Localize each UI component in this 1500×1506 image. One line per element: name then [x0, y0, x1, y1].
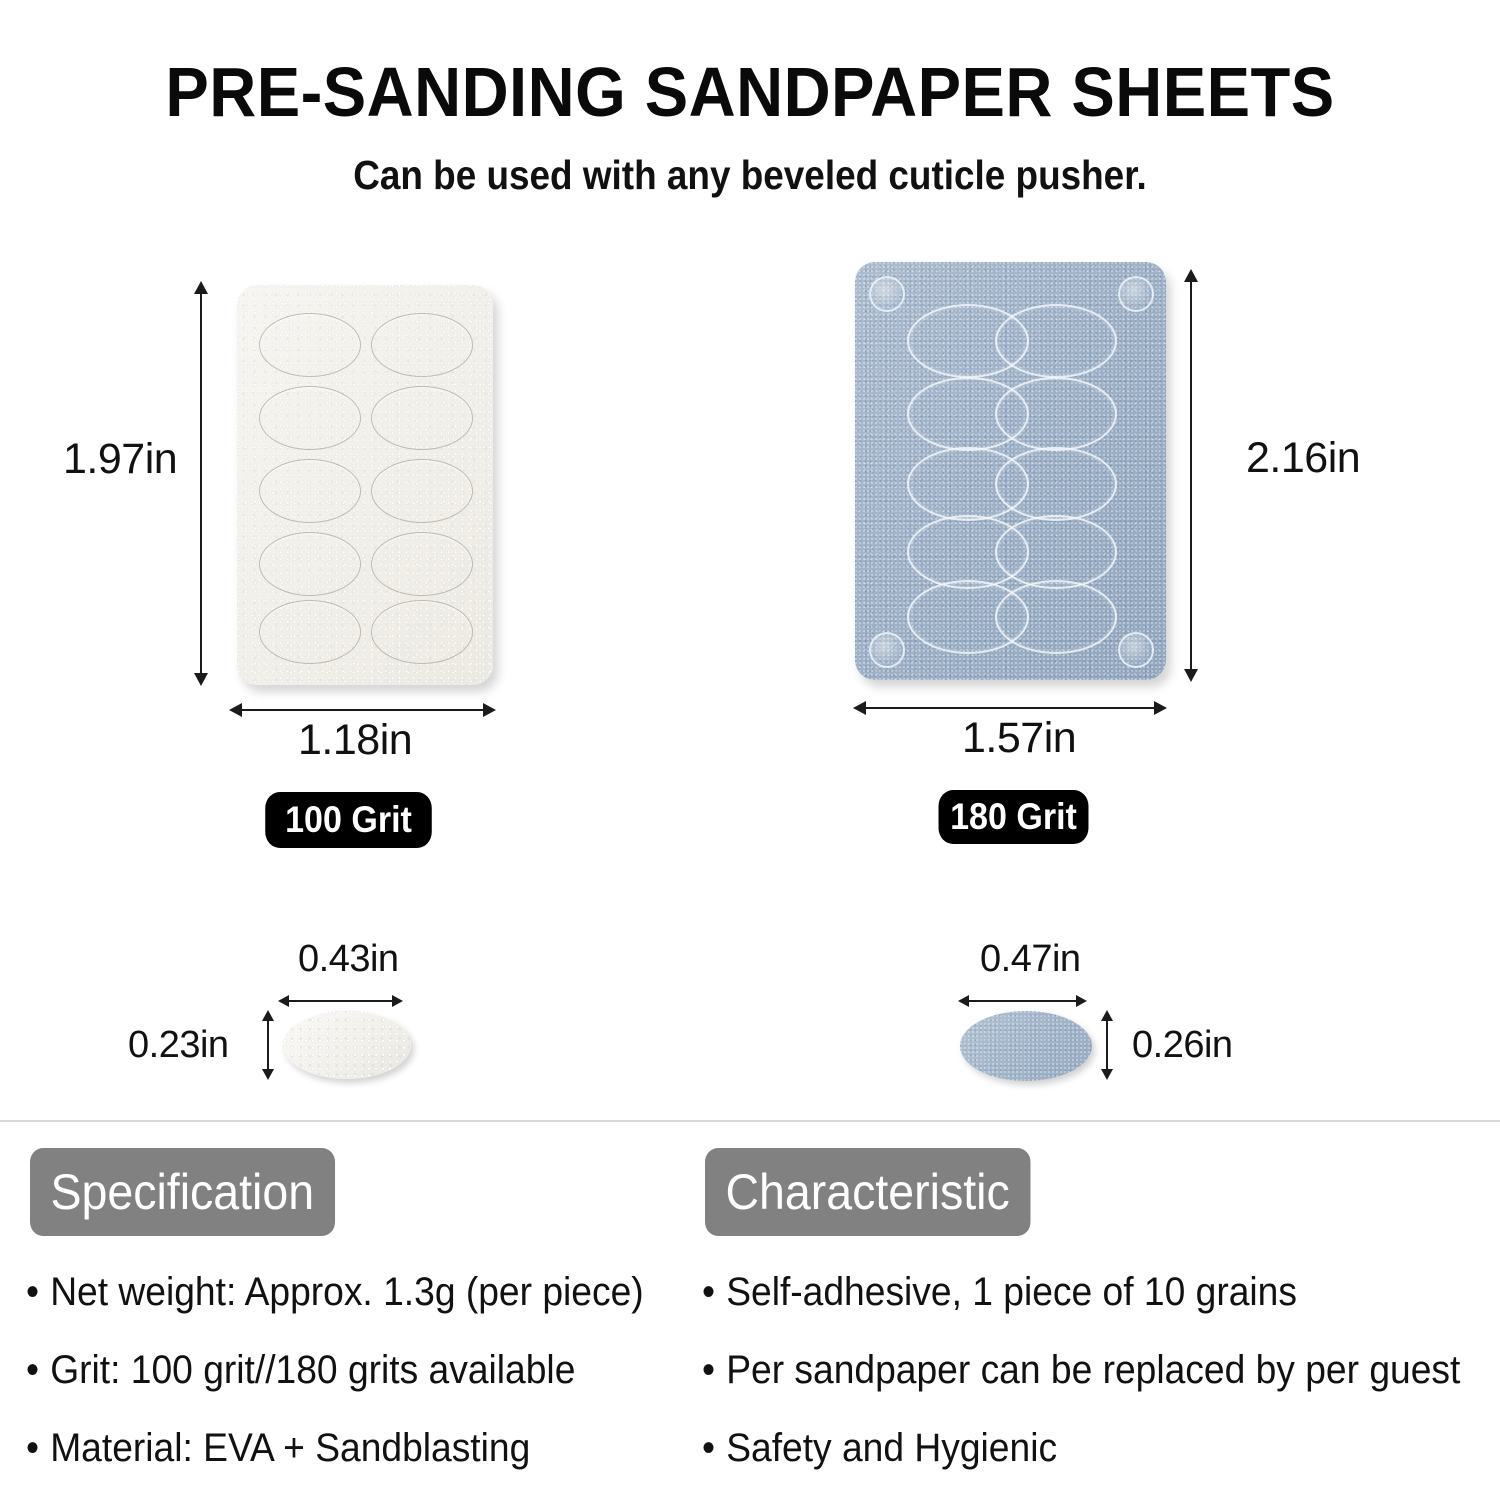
list-item-label: Per sandpaper can be replaced by per gue…	[726, 1348, 1460, 1392]
bullet-icon: •	[702, 1270, 715, 1314]
dimension-label-blue-pad-width: 0.47in	[980, 938, 1081, 981]
sheet-oval	[371, 532, 473, 596]
bullet-icon: •	[26, 1426, 39, 1470]
product-image-blue-sheet	[855, 262, 1166, 680]
sheet-oval	[371, 600, 473, 664]
arrow-right-icon	[1076, 995, 1087, 1007]
list-item-label: Safety and Hygienic	[726, 1426, 1057, 1470]
dimension-line-blue-width	[864, 707, 1156, 709]
sheet-oval	[259, 459, 361, 523]
list-item-label: Material: EVA + Sandblasting	[50, 1426, 530, 1470]
arrow-left-icon	[958, 995, 969, 1007]
sheet-corner-dot	[869, 276, 905, 312]
arrow-up-icon	[1101, 1010, 1113, 1021]
sheet-oval	[995, 377, 1117, 451]
list-item: •Safety and Hygienic	[702, 1428, 1437, 1468]
dimension-label-blue-pad-height: 0.26in	[1132, 1024, 1233, 1067]
bullet-icon: •	[26, 1348, 39, 1392]
sheet-oval	[995, 304, 1117, 378]
sheet-oval	[995, 580, 1117, 654]
list-item: •Grit: 100 grit//180 grits available	[26, 1350, 677, 1390]
specification-list: •Net weight: Approx. 1.3g (per piece) •G…	[26, 1272, 726, 1506]
arrow-down-icon	[1184, 669, 1198, 682]
sheet-corner-dot	[1118, 276, 1154, 312]
bullet-icon: •	[702, 1348, 715, 1392]
page-subtitle: Can be used with any beveled cuticle pus…	[75, 152, 1425, 199]
characteristic-heading: Characteristic	[705, 1148, 1030, 1236]
sheet-oval	[259, 313, 361, 377]
product-closeup-blue-pad	[960, 1011, 1092, 1081]
list-item-label: Grit: 100 grit//180 grits available	[50, 1348, 575, 1392]
list-item: •Net weight: Approx. 1.3g (per piece)	[26, 1272, 677, 1312]
section-divider	[0, 1120, 1500, 1122]
dimension-line-white-width	[240, 709, 485, 711]
arrow-right-icon	[1154, 701, 1167, 715]
dimension-line-white-pad-width	[288, 1000, 394, 1002]
dimension-label-blue-width: 1.57in	[962, 714, 1076, 763]
sheet-corner-dot	[1118, 632, 1154, 668]
bullet-icon: •	[26, 1270, 39, 1314]
arrow-down-icon	[262, 1069, 274, 1080]
sheet-oval	[995, 447, 1117, 521]
sheet-oval	[371, 313, 473, 377]
arrow-left-icon	[853, 701, 866, 715]
specification-heading: Specification	[30, 1148, 335, 1236]
page-title: PRE-SANDING SANDPAPER SHEETS	[53, 52, 1448, 132]
dimension-label-white-height: 1.97in	[63, 435, 177, 484]
sheet-oval	[259, 532, 361, 596]
product-image-white-sheet	[237, 285, 493, 685]
arrow-right-icon	[483, 703, 496, 717]
sheet-oval	[259, 386, 361, 450]
grit-badge-100: 100 Grit	[265, 792, 432, 848]
arrow-left-icon	[278, 995, 289, 1007]
arrow-up-icon	[1184, 269, 1198, 282]
list-item: •Material: EVA + Sandblasting	[26, 1428, 677, 1468]
grit-badge-180: 180 Grit	[939, 790, 1089, 844]
sheet-oval	[995, 515, 1117, 589]
dimension-line-white-height	[200, 290, 202, 682]
sheet-oval	[371, 459, 473, 523]
arrow-left-icon	[229, 703, 242, 717]
product-closeup-white-pad	[283, 1011, 411, 1079]
arrow-up-icon	[194, 281, 208, 294]
list-item: •Self-adhesive, 1 piece of 10 grains	[702, 1272, 1437, 1312]
dimension-label-white-pad-height: 0.23in	[128, 1024, 229, 1067]
dimension-label-white-pad-width: 0.43in	[298, 938, 399, 981]
characteristic-list: •Self-adhesive, 1 piece of 10 grains •Pe…	[702, 1272, 1492, 1506]
arrow-right-icon	[392, 995, 403, 1007]
sheet-oval	[371, 386, 473, 450]
dimension-line-blue-pad-width	[968, 1000, 1078, 1002]
bullet-icon: •	[702, 1426, 715, 1470]
dimension-line-blue-pad-height	[1106, 1018, 1108, 1076]
dimension-label-white-width: 1.18in	[298, 716, 412, 765]
sheet-oval	[259, 600, 361, 664]
arrow-up-icon	[262, 1010, 274, 1021]
list-item-label: Self-adhesive, 1 piece of 10 grains	[726, 1270, 1297, 1314]
dimension-line-white-pad-height	[267, 1018, 269, 1076]
arrow-down-icon	[194, 673, 208, 686]
dimension-line-blue-height	[1190, 278, 1192, 678]
list-item-label: Net weight: Approx. 1.3g (per piece)	[50, 1270, 643, 1314]
arrow-down-icon	[1101, 1069, 1113, 1080]
list-item: •Per sandpaper can be replaced by per gu…	[702, 1350, 1437, 1390]
sheet-corner-dot	[869, 632, 905, 668]
dimension-label-blue-height: 2.16in	[1246, 434, 1360, 483]
